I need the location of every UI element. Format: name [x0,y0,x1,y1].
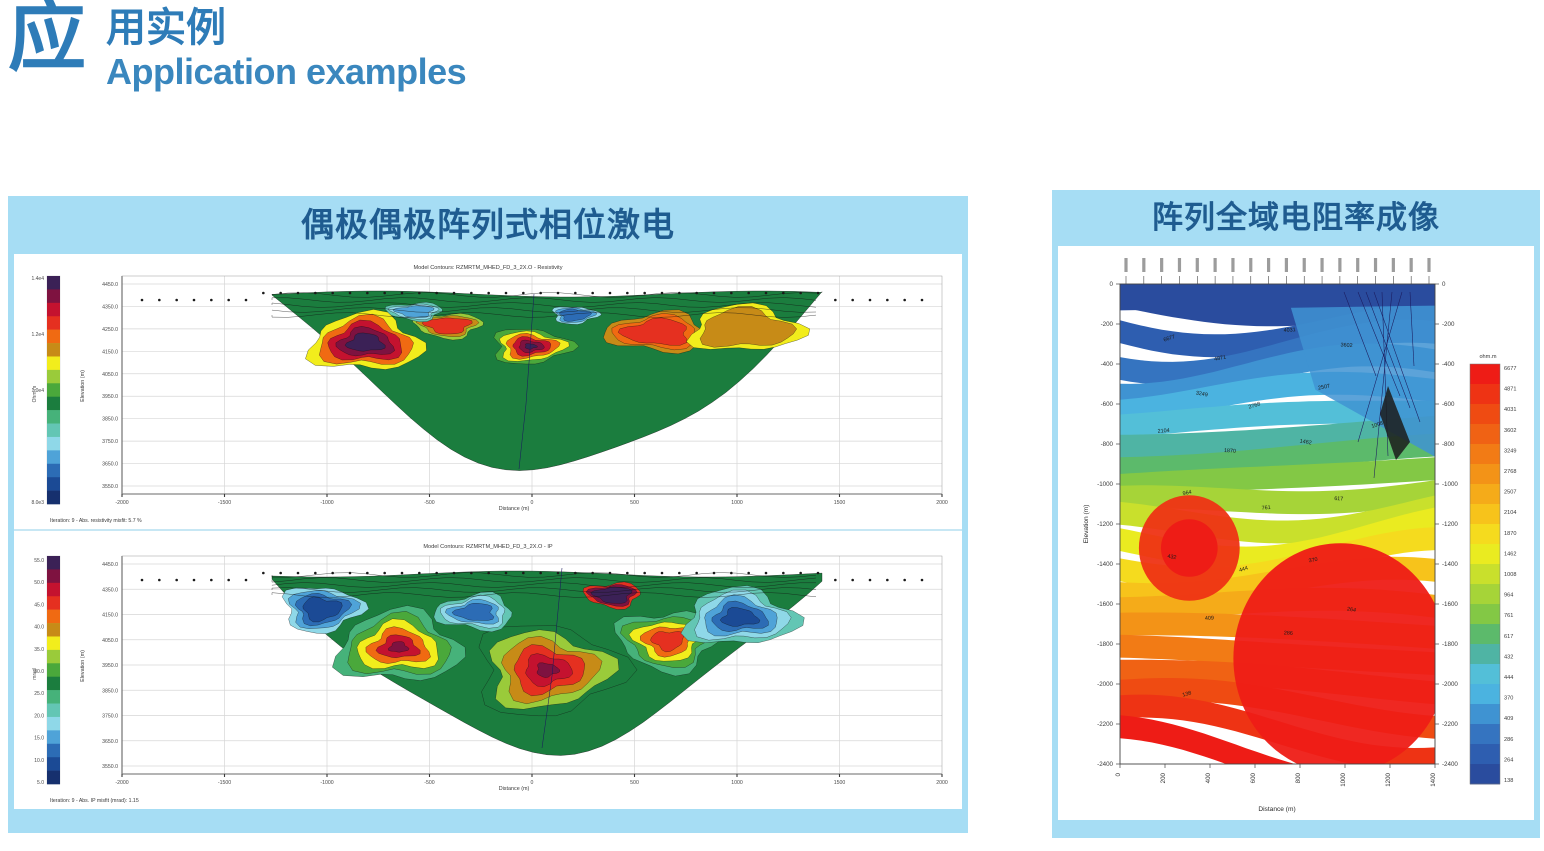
contour-value-label-17: 409 [1205,615,1214,622]
xtick-2: -1000 [320,780,333,786]
station-dot-38 [799,572,802,575]
station-dot-18 [453,292,456,295]
contour-value-label-18: 286 [1284,630,1293,636]
station-dot-42 [869,579,872,582]
panel-left-title: 偶极偶极阵列式相位激电 [8,196,968,254]
xtick-7: 1500 [834,780,846,786]
station-dot-22 [522,572,525,575]
ytick-4: 3950.0 [102,663,118,669]
array-cb-swatch-16 [1470,684,1500,704]
station-dot-36 [765,292,768,295]
cb2-swatch-1 [47,569,60,583]
station-dot-33 [713,292,716,295]
cb2-swatch-6 [47,636,60,650]
station-dot-18 [453,572,456,575]
cb1-swatch-7 [47,370,60,384]
xtick-6: 1000 [731,500,743,506]
cb2-swatch-7 [47,650,60,664]
cb2-swatch-14 [47,744,60,758]
cb2-swatch-16 [47,771,60,785]
station-marker-4 [1196,258,1199,272]
station-dot-34 [730,292,733,295]
xtick-3: 600 [1250,772,1257,783]
station-dot-45 [921,579,924,582]
array-cb-swatch-2 [1470,404,1500,424]
cb1-swatch-12 [47,437,60,451]
array-cb-swatch-13 [1470,624,1500,644]
cb1-swatch-8 [47,383,60,397]
station-dot-6 [245,579,248,582]
array-cb-tick-6: 2507 [1504,490,1516,496]
ytick-right-5: -1000 [1442,481,1458,488]
header-chinese-rest: 用实例 [106,8,226,48]
ytick-right-2: -400 [1442,361,1455,368]
cb2-tick-1: 50.0 [34,580,44,586]
station-marker-3 [1178,258,1181,272]
ytick-right-12: -2400 [1442,761,1458,768]
xtick-4: 800 [1295,772,1302,783]
xtick-3: -500 [424,780,434,786]
array-cb-swatch-17 [1470,704,1500,724]
chart-resistivity-caption: Iteration: 9 - Abs. resistivity misfit: … [50,518,142,524]
chart-ip-title: Model Contours: RZMRTM_MHED_FD_3_2X.O - … [423,544,552,550]
station-dot-12 [349,572,352,575]
array-cb-swatch-19 [1470,744,1500,764]
ytick-left-5: -1000 [1097,481,1113,488]
cb1-swatch-1 [47,289,60,303]
station-marker-7 [1249,258,1252,272]
station-dot-19 [470,292,473,295]
station-dot-19 [470,572,473,575]
station-dot-1 [158,299,161,302]
cb2-tick-6: 25.0 [34,691,44,697]
panel-right-title: 阵列全域电阻率成像 [1052,190,1540,246]
array-cb-tick-16: 370 [1504,696,1513,702]
station-dot-31 [678,292,681,295]
station-dot-23 [539,572,542,575]
ytick-6: 3750.0 [102,714,118,720]
array-cb-swatch-8 [1470,524,1500,544]
ytick-right-4: -800 [1442,441,1455,448]
ytick-0: 4450.0 [102,562,118,568]
ytick-6: 3850.0 [102,417,118,423]
array-cb-swatch-1 [1470,384,1500,404]
ytick-right-10: -2000 [1442,681,1458,688]
station-dot-17 [435,292,438,295]
ytick-1: 4350.0 [102,304,118,310]
ytick-left-3: -600 [1101,401,1114,408]
chart-resistivity-title: Model Contours: RZMRTM_MHED_FD_3_2X.O - … [413,265,562,271]
station-dot-20 [487,292,490,295]
ytick-left-12: -2400 [1097,761,1113,768]
xtick-1: 200 [1160,772,1167,783]
xtick-7: 1500 [834,500,846,506]
array-cb-tick-2: 4031 [1504,407,1516,413]
header-chinese-large: 应 [8,0,84,76]
station-dot-33 [713,572,716,575]
xtick-8: 2000 [936,500,948,506]
ytick-4: 4050.0 [102,372,118,378]
station-marker-1 [1142,258,1145,272]
station-dot-32 [695,572,698,575]
array-cb-tick-13: 617 [1504,634,1513,640]
station-dot-6 [245,299,248,302]
ytick-left-4: -800 [1101,441,1114,448]
station-dot-43 [886,299,889,302]
xtick-3: -500 [424,500,434,506]
station-dot-3 [193,299,196,302]
cb2-tick-8: 15.0 [34,736,44,742]
ytick-5: 3850.0 [102,688,118,694]
array-cb-swatch-20 [1470,764,1500,784]
cb2-tick-4: 35.0 [34,647,44,653]
ytick-left-8: -1600 [1097,601,1113,608]
ytick-left-0: 0 [1110,281,1114,288]
array-cb-swatch-9 [1470,544,1500,564]
ytick-7: 3650.0 [102,739,118,745]
cb2-label: mrad [32,668,38,680]
panel-left-body: Model Contours: RZMRTM_MHED_FD_3_2X.O - … [14,254,962,809]
station-dot-43 [886,579,889,582]
panel-array-resistivity-imaging: 阵列全域电阻率成像 667748714031360232492768250721… [1052,190,1540,838]
station-dot-27 [609,572,612,575]
array-cb-tick-11: 964 [1504,593,1513,599]
station-dot-15 [401,292,404,295]
array-cb-tick-0: 6677 [1504,366,1516,372]
array-cb-tick-9: 1462 [1504,551,1516,557]
array-resistivity-ylabel: Elevation (m) [1083,505,1090,544]
station-dot-9 [297,572,300,575]
cb1-swatch-14 [47,464,60,478]
station-dot-29 [643,292,646,295]
panel-right-body: 6677487140313602324927682507210418701462… [1058,246,1534,820]
ytick-left-9: -1800 [1097,641,1113,648]
array-cb-tick-8: 1870 [1504,531,1516,537]
station-dot-3 [193,579,196,582]
station-dot-42 [869,299,872,302]
station-dot-14 [383,572,386,575]
ytick-9: 3550.0 [102,484,118,490]
station-dot-8 [279,292,282,295]
station-dot-26 [591,292,594,295]
array-cb-tick-14: 432 [1504,654,1513,660]
ytick-2: 4250.0 [102,327,118,333]
cb2-swatch-0 [47,556,60,570]
station-dot-9 [297,292,300,295]
xtick-4: 0 [531,500,534,506]
station-dot-11 [331,292,334,295]
cb2-tick-3: 40.0 [34,625,44,631]
station-marker-0 [1124,258,1127,272]
cb1-swatch-10 [47,410,60,424]
station-dot-15 [401,572,404,575]
station-dot-44 [903,299,906,302]
ytick-1: 4350.0 [102,587,118,593]
ytick-8: 3650.0 [102,462,118,468]
xtick-2: 400 [1205,772,1212,783]
station-marker-13 [1356,258,1359,272]
station-marker-8 [1267,258,1270,272]
cb1-swatch-6 [47,356,60,370]
ytick-left-1: -200 [1101,321,1114,328]
cb2-swatch-5 [47,623,60,637]
cb1-swatch-15 [47,477,60,491]
array-cb-swatch-15 [1470,664,1500,684]
station-dot-8 [279,572,282,575]
station-dot-37 [782,572,785,575]
cb1-swatch-9 [47,397,60,411]
header-english-subtitle: Application examples [106,54,466,90]
contour-value-label-7: 2104 [1158,428,1170,435]
cb2-swatch-10 [47,690,60,704]
cb2-tick-7: 20.0 [34,713,44,719]
cb2-swatch-13 [47,730,60,744]
array-cb-swatch-12 [1470,604,1500,624]
ytick-3: 4050.0 [102,638,118,644]
station-dot-31 [678,572,681,575]
cb1-tick-1: 1.2e4 [31,332,44,338]
station-marker-17 [1427,258,1430,272]
station-dot-34 [730,572,733,575]
array-cb-tick-7: 2104 [1504,510,1516,516]
chart-ip-xlabel: Distance (m) [499,786,530,792]
cb2-swatch-11 [47,704,60,718]
xtick-0: -2000 [115,780,128,786]
station-dot-25 [574,572,577,575]
cb1-swatch-4 [47,330,60,344]
station-dot-16 [418,572,421,575]
station-dot-25 [574,292,577,295]
xtick-6: 1000 [731,780,743,786]
ytick-2: 4150.0 [102,613,118,619]
station-dot-17 [435,572,438,575]
station-dot-39 [817,572,820,575]
station-dot-28 [626,292,629,295]
station-dot-44 [903,579,906,582]
station-dot-10 [314,572,317,575]
station-dot-40 [834,579,837,582]
xtick-5: 1000 [1340,772,1347,786]
contour-value-label-3: 3602 [1340,342,1352,349]
station-dot-45 [921,299,924,302]
station-dot-24 [557,292,560,295]
cb1-swatch-2 [47,303,60,317]
station-dot-29 [643,572,646,575]
array-cb-tick-5: 2768 [1504,469,1516,475]
station-dot-38 [799,292,802,295]
cb2-swatch-9 [47,677,60,691]
cb2-tick-0: 55.0 [34,558,44,564]
contour-value-label-13: 617 [1334,496,1343,502]
cb1-tick-3: 8.0e3 [31,500,44,506]
xtick-8: 2000 [936,780,948,786]
xtick-5: 500 [630,780,639,786]
right-figure: 6677487140313602324927682507210418701462… [1058,246,1534,820]
station-dot-13 [366,572,369,575]
array-cb-tick-4: 3249 [1504,448,1516,454]
ytick-7: 3750.0 [102,439,118,445]
array-cb-tick-12: 761 [1504,613,1513,619]
station-dot-35 [747,572,750,575]
station-dot-1 [158,579,161,582]
cb1-tick-0: 1.4e4 [31,276,44,282]
array-colorbar-label: ohm.m [1479,354,1496,360]
panel-dipole-dipole-phase-ip: 偶极偶极阵列式相位激电 Model Contours: RZMRTM_MHED_… [8,196,968,833]
cb2-swatch-12 [47,717,60,731]
station-dot-21 [505,292,508,295]
station-marker-11 [1320,258,1323,272]
array-cb-swatch-7 [1470,504,1500,524]
ytick-5: 3950.0 [102,394,118,400]
station-dot-14 [383,292,386,295]
station-dot-4 [210,579,213,582]
chart-ip-ylabel: Elevation (m) [80,650,86,682]
station-marker-15 [1392,258,1395,272]
contour-value-label-12: 761 [1261,505,1270,512]
array-cb-tick-17: 409 [1504,716,1513,722]
ytick-right-9: -1800 [1442,641,1458,648]
ytick-right-3: -600 [1442,401,1455,408]
cb2-tick-10: 5.0 [37,780,44,786]
cb1-swatch-0 [47,276,60,290]
xtick-5: 500 [630,500,639,506]
station-dot-12 [349,292,352,295]
cb1-swatch-11 [47,424,60,438]
station-marker-12 [1338,258,1341,272]
station-marker-6 [1231,258,1234,272]
station-dot-7 [262,292,265,295]
xtick-0: -2000 [115,500,128,506]
station-marker-5 [1214,258,1217,272]
xtick-1: -1500 [218,500,231,506]
left-hot-core-inner [1161,519,1218,577]
array-cb-tick-18: 286 [1504,737,1513,743]
station-dot-10 [314,292,317,295]
station-marker-10 [1303,258,1306,272]
station-dot-37 [782,292,785,295]
cb1-swatch-3 [47,316,60,330]
contour-value-label-2: 4031 [1284,327,1296,334]
cb2-swatch-2 [47,583,60,597]
array-cb-swatch-5 [1470,464,1500,484]
ytick-0: 4450.0 [102,282,118,288]
deep-hot-core [1233,543,1447,773]
ytick-right-0: 0 [1442,281,1446,288]
station-dot-16 [418,292,421,295]
station-dot-4 [210,299,213,302]
ytick-3: 4150.0 [102,349,118,355]
cb2-swatch-3 [47,596,60,610]
array-cb-swatch-4 [1470,444,1500,464]
station-marker-9 [1285,258,1288,272]
cb2-tick-9: 10.0 [34,758,44,764]
xtick-2: -1000 [320,500,333,506]
ytick-right-8: -1600 [1442,601,1458,608]
array-cb-swatch-10 [1470,564,1500,584]
station-dot-30 [661,292,664,295]
station-dot-24 [557,572,560,575]
array-cb-tick-15: 444 [1504,675,1513,681]
station-dot-35 [747,292,750,295]
station-marker-2 [1160,258,1163,272]
station-dot-5 [227,579,230,582]
station-dot-41 [851,299,854,302]
station-dot-40 [834,299,837,302]
station-dot-2 [175,299,178,302]
ytick-right-7: -1400 [1442,561,1458,568]
ytick-left-7: -1400 [1097,561,1113,568]
station-dot-32 [695,292,698,295]
ytick-left-6: -1200 [1097,521,1113,528]
station-dot-20 [487,572,490,575]
station-dot-7 [262,572,265,575]
cb1-swatch-5 [47,343,60,357]
cb2-swatch-4 [47,610,60,624]
array-resistivity-plot: 6677487140313602324927682507210418701462… [1083,281,1458,813]
ytick-left-2: -400 [1101,361,1114,368]
station-dot-36 [765,572,768,575]
ytick-right-1: -200 [1442,321,1455,328]
chart-resistivity-ylabel: Elevation (m) [80,370,86,402]
station-dot-26 [591,572,594,575]
station-dot-27 [609,292,612,295]
xtick-7: 1400 [1430,772,1437,786]
ytick-8: 3550.0 [102,764,118,770]
contour-value-label-8: 1870 [1224,448,1236,455]
xtick-6: 1200 [1385,772,1392,786]
ytick-right-6: -1200 [1442,521,1458,528]
station-dot-0 [141,299,144,302]
array-cb-tick-20: 138 [1504,778,1513,784]
station-dot-11 [331,572,334,575]
array-cb-swatch-14 [1470,644,1500,664]
cb1-swatch-13 [47,450,60,464]
station-marker-16 [1410,258,1413,272]
cb1-label: Ohm-m [32,386,38,403]
station-marker-14 [1374,258,1377,272]
page-header: 应 用实例 Application examples [0,0,700,115]
xtick-1: -1500 [218,780,231,786]
station-dot-41 [851,579,854,582]
cb1-swatch-16 [47,491,60,505]
station-dot-23 [539,292,542,295]
xtick-0: 0 [1115,772,1122,776]
left-figure: Model Contours: RZMRTM_MHED_FD_3_2X.O - … [14,254,962,809]
station-dot-2 [175,579,178,582]
array-cb-swatch-6 [1470,484,1500,504]
station-dot-39 [817,292,820,295]
cb2-swatch-8 [47,663,60,677]
station-dot-0 [141,579,144,582]
array-cb-swatch-0 [1470,364,1500,384]
array-cb-swatch-11 [1470,584,1500,604]
ytick-right-11: -2200 [1442,721,1458,728]
array-cb-tick-3: 3602 [1504,428,1516,434]
array-cb-tick-19: 264 [1504,757,1513,763]
chart-resistivity-xlabel: Distance (m) [499,506,530,512]
cb2-tick-2: 45.0 [34,602,44,608]
chart-ip-caption: Iteration: 9 - Abs. IP misfit (mrad): 1.… [50,798,139,804]
array-cb-swatch-3 [1470,424,1500,444]
station-dot-13 [366,292,369,295]
array-resistivity-xlabel: Distance (m) [1258,806,1295,813]
xtick-4: 0 [531,780,534,786]
cb2-swatch-15 [47,757,60,771]
station-dot-5 [227,299,230,302]
station-dot-30 [661,572,664,575]
ytick-left-10: -2000 [1097,681,1113,688]
array-cb-swatch-18 [1470,724,1500,744]
